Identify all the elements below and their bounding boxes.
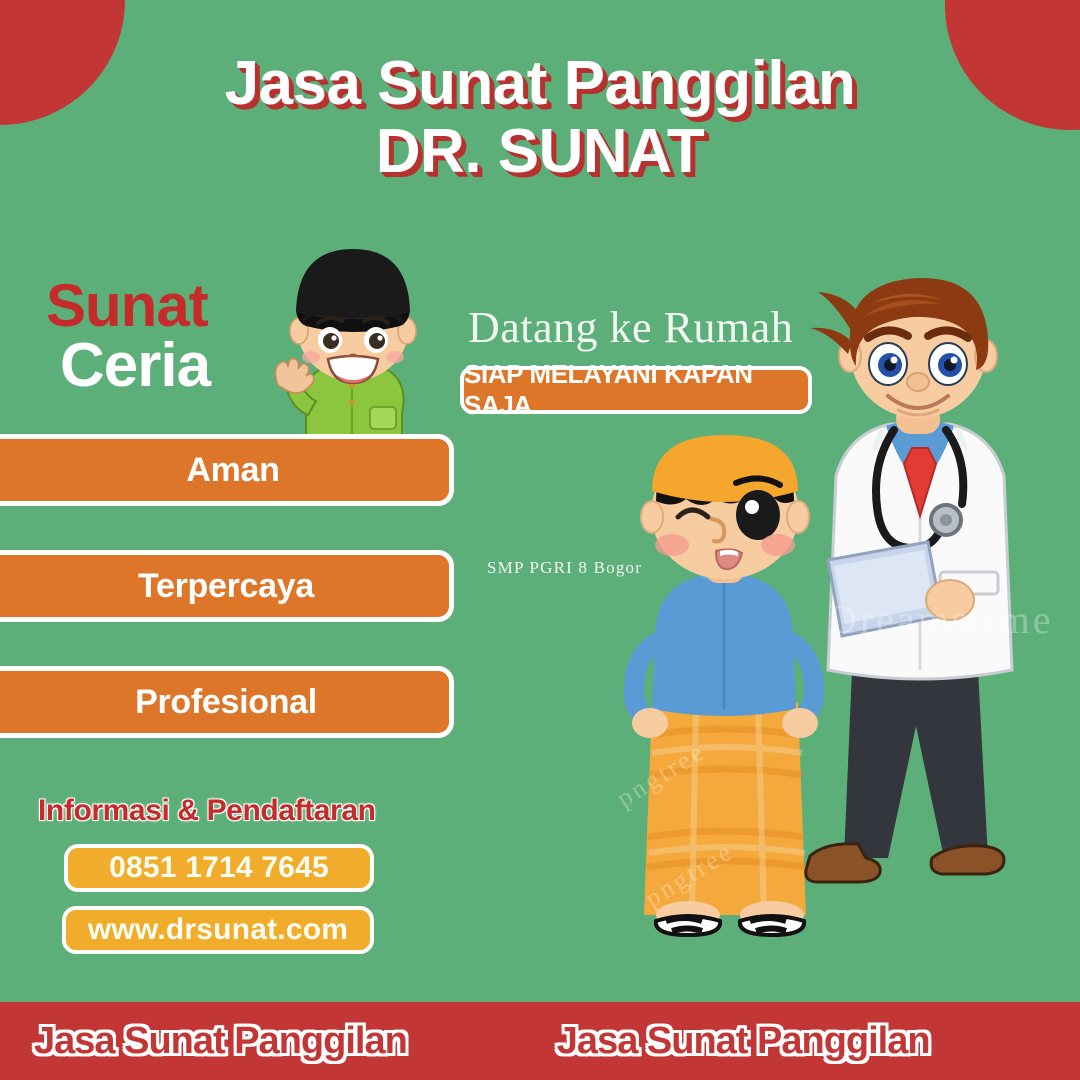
poster-canvas: Jasa Sunat Panggilan DR. SUNAT Sunat Cer… <box>0 0 1080 1080</box>
feature-item-terpercaya[interactable]: Terpercaya <box>0 550 454 622</box>
contact-block: Informasi & Pendaftaran 0851 1714 7645 w… <box>36 794 436 954</box>
website-text: www.drsunat.com <box>88 913 348 947</box>
school-watermark: SMP PGRI 8 Bogor <box>487 558 642 578</box>
website-pill[interactable]: www.drsunat.com <box>62 906 374 954</box>
phone-number-pill[interactable]: 0851 1714 7645 <box>64 844 374 892</box>
promo-headline: Datang ke Rumah <box>468 302 793 353</box>
feature-item-aman[interactable]: Aman <box>0 434 454 506</box>
feature-label: Profesional <box>109 683 317 722</box>
feature-label: Aman <box>146 451 279 490</box>
feature-label: Terpercaya <box>112 567 314 606</box>
waving-boy-mascot-illustration <box>258 245 448 455</box>
brand-word-sunat: Sunat <box>46 278 210 333</box>
bottom-banner-text-left: Jasa Sunat Panggilan <box>34 1020 407 1063</box>
cta-label: SIAP MELAYANI KAPAN SAJA <box>464 359 808 421</box>
poster-header: Jasa Sunat Panggilan DR. SUNAT <box>0 52 1080 185</box>
brand-word-ceria: Ceria <box>60 337 210 394</box>
header-title-line1: Jasa Sunat Panggilan <box>0 52 1080 116</box>
contact-heading: Informasi & Pendaftaran <box>38 794 436 828</box>
phone-number-text: 0851 1714 7645 <box>109 851 329 885</box>
feature-item-profesional[interactable]: Profesional <box>0 666 454 738</box>
doctor-illustration <box>800 270 1040 925</box>
feature-list: Aman Terpercaya Profesional <box>0 434 454 782</box>
bottom-banner: Jasa Sunat Panggilan Jasa Sunat Panggila… <box>0 1002 1080 1080</box>
bottom-banner-text-right: Jasa Sunat Panggilan <box>557 1020 930 1063</box>
brand-lockup: Sunat Ceria <box>46 278 210 394</box>
header-title-line2: DR. SUNAT <box>0 120 1080 184</box>
cta-badge[interactable]: SIAP MELAYANI KAPAN SAJA <box>460 366 812 414</box>
